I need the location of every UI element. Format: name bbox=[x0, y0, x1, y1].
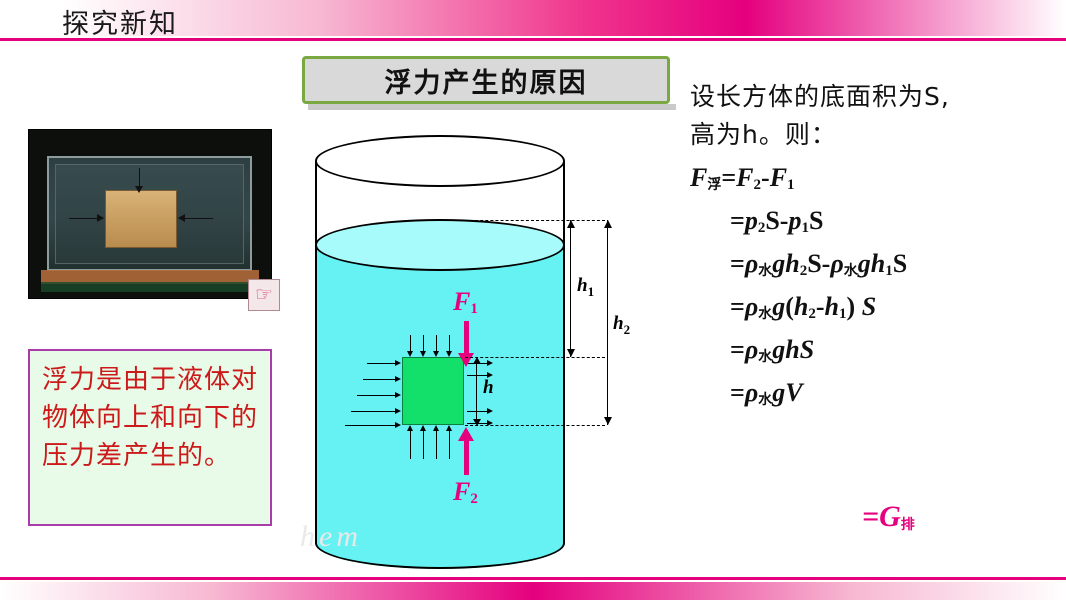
pressure-arrow-right-1-head bbox=[395, 360, 401, 366]
conclusion-box: 浮力是由于液体对物体向上和向下的压力差产生的。 bbox=[28, 349, 272, 526]
derivation-eq-3: =ρ水gh2S-ρ水gh1S bbox=[730, 246, 1060, 289]
dim-h2-head-bottom bbox=[604, 417, 612, 425]
photo-arrow-left-icon bbox=[69, 218, 103, 219]
dim-h2-line bbox=[607, 220, 608, 425]
pressure-arrow-right-5 bbox=[345, 425, 397, 426]
h1-letter: h bbox=[577, 275, 588, 296]
pressure-arrow-down-4-head bbox=[446, 351, 452, 357]
pressure-arrow-out-3-head bbox=[487, 408, 493, 414]
leader-line-block-bottom bbox=[465, 425, 605, 426]
photo-wood-block bbox=[105, 190, 177, 248]
leader-line-surface bbox=[465, 220, 605, 221]
pressure-arrow-right-2 bbox=[363, 379, 397, 380]
pressure-arrow-up-3-head bbox=[433, 425, 439, 431]
page-title: 探究新知 bbox=[62, 2, 178, 41]
derivation-line-cn-1: 设长方体的底面积为S, bbox=[690, 78, 1060, 116]
dim-h-line bbox=[476, 363, 477, 421]
pressure-arrow-out-3 bbox=[467, 411, 489, 412]
pressure-arrow-right-3-head bbox=[395, 392, 401, 398]
h2-letter: h bbox=[613, 313, 624, 334]
f1-letter: F bbox=[453, 287, 470, 316]
force-f1-shaft bbox=[464, 321, 469, 357]
title-banner: 浮力产生的原因 bbox=[302, 56, 670, 104]
watermark-text: hem bbox=[300, 520, 362, 554]
pressure-arrow-up-1-head bbox=[407, 425, 413, 431]
pressure-arrow-down-2-head bbox=[420, 351, 426, 357]
water-surface-ellipse bbox=[315, 219, 565, 271]
derivation-eq-2: =p2S-p1S bbox=[730, 203, 1060, 246]
pressure-arrow-up-4 bbox=[449, 431, 450, 459]
submerged-block bbox=[402, 357, 464, 425]
leader-line-block-top bbox=[465, 357, 605, 358]
dim-h2-head-top bbox=[604, 220, 612, 228]
dim-h-head-bottom bbox=[473, 419, 481, 426]
derivation-panel: 设长方体的底面积为S, 高为h。则： F浮=F2-F1 =p2S-p1S =ρ水… bbox=[690, 78, 1060, 418]
pressure-arrow-right-2-head bbox=[395, 376, 401, 382]
h2-subscript: 2 bbox=[624, 322, 631, 337]
pressure-arrow-right-1 bbox=[367, 363, 397, 364]
derivation-eq-1: F浮=F2-F1 bbox=[690, 160, 1060, 203]
derivation-line-cn-2: 高为h。则： bbox=[690, 116, 1060, 154]
f2-letter: F bbox=[453, 477, 470, 506]
f1-subscript: 1 bbox=[470, 301, 478, 317]
h1-subscript: 1 bbox=[588, 284, 595, 299]
pressure-arrow-up-1 bbox=[410, 431, 411, 459]
photo-arrow-right-icon bbox=[179, 218, 213, 219]
pressure-arrow-right-5-head bbox=[395, 422, 401, 428]
pressure-arrow-right-4 bbox=[351, 411, 397, 412]
dim-h1-head-top bbox=[567, 220, 575, 228]
pressure-arrow-up-4-head bbox=[446, 425, 452, 431]
photo-base-strip-2 bbox=[41, 282, 259, 292]
cylinder-left-wall bbox=[315, 161, 317, 543]
f2-subscript: 2 bbox=[470, 491, 478, 507]
bottom-decorative-strip bbox=[0, 582, 1066, 600]
dim-h1-label: h1 bbox=[577, 275, 594, 300]
banner-title-text: 浮力产生的原因 bbox=[385, 61, 588, 100]
pressure-arrow-right-3 bbox=[357, 395, 397, 396]
force-f2-head bbox=[458, 427, 474, 441]
conclusion-text: 浮力是由于液体对物体向上和向下的压力差产生的。 bbox=[42, 361, 258, 475]
experiment-photo bbox=[28, 129, 272, 299]
derivation-eq-6: =ρ水gV bbox=[730, 375, 1060, 418]
photo-arrow-down-icon bbox=[139, 168, 140, 190]
pressure-arrow-up-2 bbox=[423, 431, 424, 459]
force-f1-head bbox=[458, 353, 474, 367]
derivation-eq-4: =ρ水g(h2-h1) S bbox=[730, 289, 1060, 332]
banner-shadow bbox=[308, 104, 676, 110]
pressure-arrow-down-3-head bbox=[433, 351, 439, 357]
dim-h2-label: h2 bbox=[613, 313, 630, 338]
derivation-eq-5: =ρ水ghS bbox=[730, 332, 1060, 375]
pressure-arrow-out-1-head bbox=[487, 360, 493, 366]
dim-h-head-top bbox=[473, 357, 481, 364]
force-f2-shaft bbox=[464, 439, 469, 475]
dim-h1-head-bottom bbox=[567, 349, 575, 357]
pressure-arrow-right-4-head bbox=[395, 408, 401, 414]
beaker-diagram: F1 F2 h1 h2 h bbox=[305, 135, 575, 550]
cylinder-right-wall bbox=[563, 161, 565, 543]
bottom-rule bbox=[0, 577, 1066, 580]
dim-h1-line bbox=[570, 220, 571, 357]
force-f2-label: F2 bbox=[453, 477, 478, 508]
cylinder-top-ellipse bbox=[315, 135, 565, 187]
pressure-arrow-down-1-head bbox=[407, 351, 413, 357]
force-f1-label: F1 bbox=[453, 287, 478, 318]
dim-h-label: h bbox=[483, 377, 494, 399]
hand-pointer-icon[interactable]: ☞ bbox=[248, 279, 280, 311]
derivation-final-result: =G排 bbox=[862, 500, 915, 534]
pressure-arrow-out-2 bbox=[467, 375, 489, 376]
pressure-arrow-up-2-head bbox=[420, 425, 426, 431]
pressure-arrow-up-3 bbox=[436, 431, 437, 459]
